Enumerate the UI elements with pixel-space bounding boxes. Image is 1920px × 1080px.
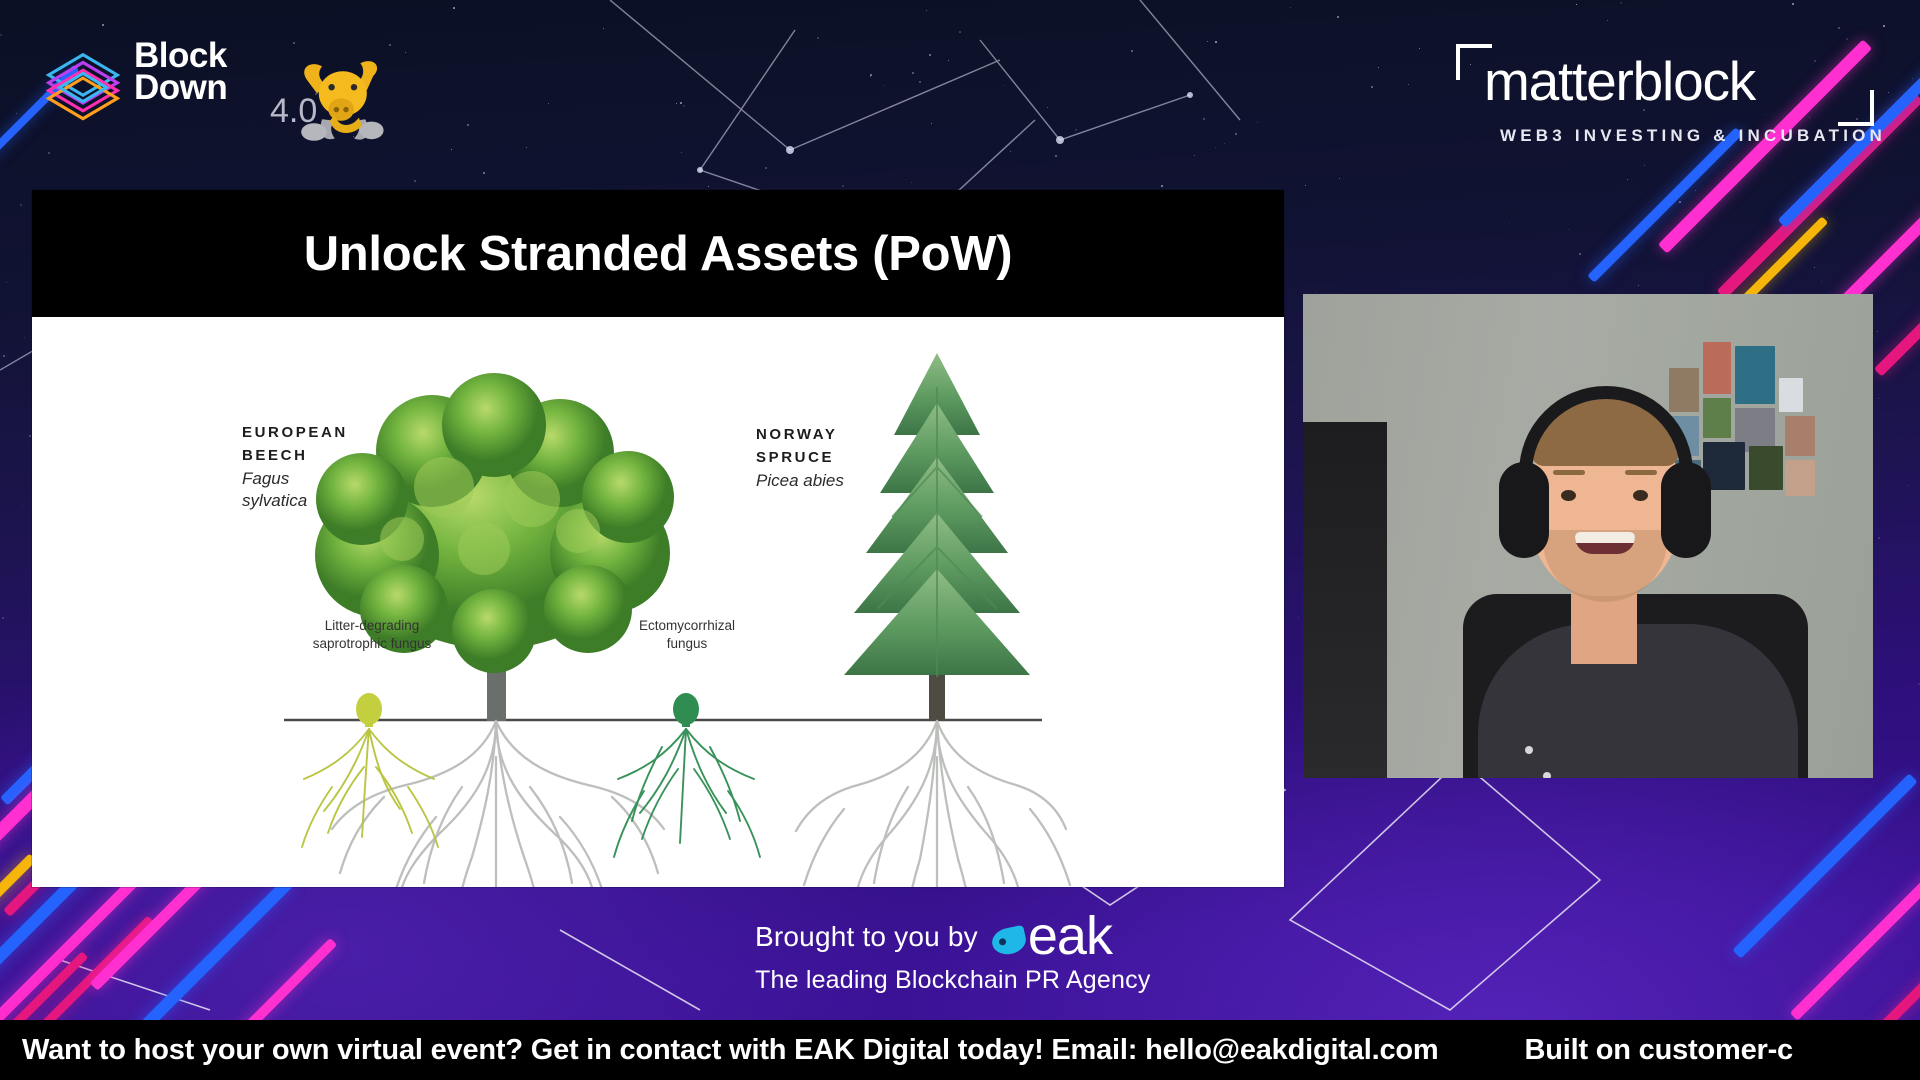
headphone-left-cup-icon — [1499, 462, 1549, 558]
webcam-furniture — [1303, 422, 1387, 778]
beech-common-name-line1: EUROPEAN — [242, 421, 348, 444]
saprotrophic-label-line2: saprotrophic fungus — [277, 635, 467, 653]
presenter-torso — [1478, 624, 1798, 778]
spruce-scientific-line1: Picea abies — [756, 470, 844, 493]
european-beech-label: EUROPEAN BEECH Fagus sylvatica — [242, 421, 348, 513]
saprotrophic-label-line1: Litter-degrading — [277, 617, 467, 635]
matterblock-wordmark: matterblock — [1484, 54, 1755, 109]
blockdown-wordmark: Block Down — [134, 40, 227, 104]
presenter-webcam[interactable] — [1303, 294, 1873, 778]
norway-spruce-label: NORWAY SPRUCE Picea abies — [756, 423, 844, 492]
broadcast-stage: Block Down 4.0 matte — [0, 0, 1920, 1080]
matterblock-logo: matterblock WEB3 INVESTING & INCUBATION — [1448, 28, 1878, 158]
slide-title: Unlock Stranded Assets (PoW) — [304, 226, 1013, 282]
ticker-content: Want to host your own virtual event? Get… — [0, 1034, 1793, 1067]
beech-scientific-line2: sylvatica — [242, 490, 348, 513]
root-systems — [302, 721, 1070, 887]
eak-logo: eak — [992, 915, 1112, 958]
eak-droplet-icon — [990, 925, 1029, 958]
european-beech-tree — [315, 373, 674, 721]
shirt-button-1 — [1525, 746, 1533, 754]
presentation-slide: Unlock Stranded Assets (PoW) — [32, 190, 1284, 887]
headphone-right-cup-icon — [1661, 462, 1711, 558]
eak-sponsor-footer: Brought to you by eak The leading Blockc… — [755, 915, 1195, 1003]
ectomycorrhizal-label-line1: Ectomycorrhizal — [607, 617, 767, 635]
brought-to-you-label: Brought to you by — [755, 921, 978, 953]
presenter-eye-left — [1561, 490, 1576, 501]
bull-mascot-icon — [290, 52, 386, 148]
slide-header-band: Unlock Stranded Assets (PoW) — [32, 190, 1284, 317]
ticker-message-1: Want to host your own virtual event? Get… — [22, 1034, 1438, 1067]
slide-body: EUROPEAN BEECH Fagus sylvatica NORWAY SP… — [32, 317, 1284, 887]
beech-scientific-line1: Fagus — [242, 468, 348, 491]
bottom-ticker-bar: Want to host your own virtual event? Get… — [0, 1020, 1920, 1080]
presenter-brow-right — [1625, 470, 1657, 475]
saprotrophic-fungus-label: Litter-degrading saprotrophic fungus — [277, 617, 467, 653]
ectomycorrhizal-label-line2: fungus — [607, 635, 767, 653]
norway-spruce-tree — [844, 353, 1030, 721]
blockdown-diamond-icon — [44, 50, 122, 128]
presenter-mouth — [1575, 532, 1635, 554]
fungus-fruiting-bodies — [356, 693, 699, 727]
matterblock-tagline: WEB3 INVESTING & INCUBATION — [1500, 126, 1886, 146]
tree-mycorrhiza-diagram — [32, 317, 1284, 887]
presenter-eye-right — [1633, 490, 1648, 501]
saprotrophic-mycelium — [302, 729, 438, 847]
spruce-common-name-line2: SPRUCE — [756, 446, 844, 469]
eak-tagline: The leading Blockchain PR Agency — [755, 966, 1195, 995]
shirt-button-2 — [1543, 772, 1551, 778]
presenter-brow-left — [1553, 470, 1585, 475]
blockdown-logo: Block Down 4.0 — [38, 34, 378, 142]
ectomycorrhizal-fungus-label: Ectomycorrhizal fungus — [607, 617, 767, 653]
bracket-bottom-right-icon — [1838, 90, 1874, 126]
ticker-message-2: Built on customer-c — [1524, 1034, 1793, 1067]
blockdown-line-2: Down — [134, 72, 227, 104]
ectomycorrhizal-mycelium — [614, 729, 760, 857]
eak-wordmark: eak — [1028, 915, 1112, 958]
presenter-teeth — [1575, 532, 1635, 543]
spruce-common-name-line1: NORWAY — [756, 423, 844, 446]
beech-common-name-line2: BEECH — [242, 444, 348, 467]
brought-to-you-row: Brought to you by eak — [755, 915, 1195, 958]
